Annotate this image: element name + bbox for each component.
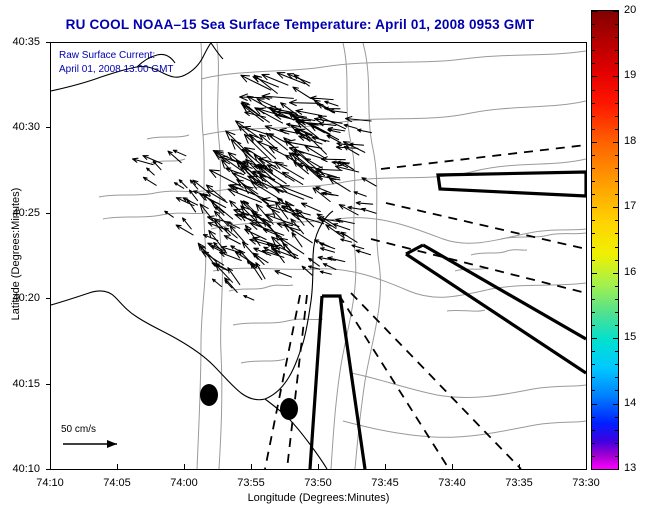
colorbar-minor-tick [615, 247, 618, 248]
colorbar-minor-tick [592, 299, 595, 300]
x-axis-tick [586, 464, 587, 469]
current-vector [356, 250, 370, 255]
x-axis-tick-label: 74:10 [36, 477, 64, 489]
colorbar-minor-tick [592, 24, 595, 25]
current-vector [336, 219, 355, 224]
current-vector [147, 168, 155, 175]
colorbar-minor-tick [592, 286, 595, 287]
colorbar-tick-label: 19 [624, 69, 636, 81]
colorbar-minor-tick [615, 168, 618, 169]
x-axis-tick [251, 464, 252, 469]
current-vector [344, 124, 357, 128]
colorbar-tick-label: 15 [624, 331, 636, 343]
colorbar-tick [613, 142, 618, 143]
current-vector [325, 101, 338, 106]
colorbar-minor-tick [592, 220, 595, 221]
current-vector [320, 271, 331, 274]
colorbar-minor-tick [615, 312, 618, 313]
current-vector [224, 236, 240, 244]
current-vector [240, 94, 272, 100]
current-vector [228, 268, 240, 285]
current-vector [341, 239, 352, 242]
current-vector [299, 136, 322, 144]
sst-map-figure: RU COOL NOAA–15 Sea Surface Temperature:… [0, 0, 651, 518]
current-vector [302, 203, 321, 211]
colorbar-minor-tick [592, 351, 595, 352]
colorbar-minor-tick [615, 364, 618, 365]
colorbar-tick-label: 14 [624, 397, 636, 409]
current-vector [256, 263, 265, 279]
colorbar-tick [613, 11, 618, 12]
colorbar-minor-tick [592, 377, 595, 378]
colorbar-ticks [592, 11, 618, 469]
colorbar-minor-tick [592, 103, 595, 104]
current-vector [206, 185, 225, 200]
colorbar-minor-tick [592, 129, 595, 130]
colorbar-minor-tick [615, 325, 618, 326]
colorbar-minor-tick [592, 417, 595, 418]
station-marker-west [200, 384, 218, 406]
current-vector [352, 245, 364, 249]
x-axis-tick-label: 73:40 [438, 477, 466, 489]
current-vector [313, 188, 330, 202]
colorbar-minor-tick [615, 103, 618, 104]
x-axis-tick-label: 73:35 [505, 477, 533, 489]
current-vector [176, 225, 193, 235]
x-axis-ticks [50, 469, 587, 475]
current-vector [346, 117, 372, 122]
colorbar-minor-tick [592, 247, 595, 248]
current-vector [356, 202, 372, 205]
current-vector [350, 143, 364, 146]
colorbar-minor-tick [615, 390, 618, 391]
y-axis-tick [46, 384, 51, 385]
colorbar-minor-tick [592, 312, 595, 313]
annotation-line-2: April 01, 2008 13:00 GMT [59, 63, 174, 77]
colorbar-minor-tick [615, 37, 618, 38]
y-axis-tick-label: 40:10 [0, 463, 40, 475]
shipping-lane-mid [406, 245, 586, 373]
y-axis-ticks [45, 42, 51, 470]
current-vector [322, 157, 346, 162]
colorbar-minor-tick [592, 364, 595, 365]
colorbar-minor-tick [592, 325, 595, 326]
colorbar-minor-tick [615, 63, 618, 64]
y-axis-tick-label: 40:35 [0, 36, 40, 48]
colorbar-minor-tick [615, 50, 618, 51]
current-vector [244, 126, 268, 134]
y-axis-tick [46, 298, 51, 299]
colorbar-minor-tick [615, 233, 618, 234]
colorbar-minor-tick [592, 181, 595, 182]
colorbar-minor-tick [592, 430, 595, 431]
colorbar-minor-tick [615, 299, 618, 300]
x-axis-tick [452, 464, 453, 469]
colorbar-tick-label: 16 [624, 266, 636, 278]
colorbar-minor-tick [592, 63, 595, 64]
colorbar-tick [613, 469, 618, 470]
colorbar-minor-tick [615, 377, 618, 378]
x-axis-tick-label: 73:50 [304, 477, 332, 489]
current-vector [216, 265, 233, 282]
x-axis-tick-label: 73:45 [371, 477, 399, 489]
current-vector [335, 165, 358, 172]
x-axis-tick [519, 464, 520, 469]
current-vector [293, 87, 311, 98]
current-vector [173, 150, 186, 156]
sst-contour-group [99, 43, 586, 469]
scale-legend: 50 cm/s [61, 424, 171, 464]
current-vector [357, 129, 371, 133]
colorbar-minor-tick [615, 456, 618, 457]
current-annotation: Raw Surface Current: April 01, 2008 13:0… [59, 49, 174, 77]
current-vector [263, 250, 284, 257]
colorbar-minor-tick [615, 260, 618, 261]
colorbar-minor-tick [615, 129, 618, 130]
y-axis-title: Latitude (Degrees:Minutes) [10, 154, 22, 354]
colorbar-minor-tick [615, 181, 618, 182]
colorbar-minor-tick [592, 260, 595, 261]
colorbar-tick [613, 338, 618, 339]
y-axis-tick [46, 42, 51, 43]
y-axis-tick [46, 469, 51, 470]
x-axis-tick [318, 464, 319, 469]
colorbar-minor-tick [615, 155, 618, 156]
current-vector [333, 224, 350, 230]
current-vector [283, 172, 303, 184]
map-plot-area[interactable]: Raw Surface Current: April 01, 2008 13:0… [50, 42, 587, 470]
x-axis-tick [117, 464, 118, 469]
current-vector [133, 158, 154, 164]
colorbar-tick [613, 273, 618, 274]
colorbar-minor-tick [592, 50, 595, 51]
colorbar-minor-tick [615, 116, 618, 117]
shipping-lane-north [438, 172, 586, 196]
shipping-lane-group [310, 172, 586, 469]
colorbar-minor-tick [615, 194, 618, 195]
colorbar-minor-tick [615, 430, 618, 431]
current-vector [275, 271, 292, 277]
colorbar-tick-label: 17 [624, 200, 636, 212]
colorbar-tick-label: 20 [624, 4, 636, 16]
x-axis-title: Longitude (Degrees:Minutes) [50, 492, 587, 504]
colorbar-minor-tick [615, 351, 618, 352]
colorbar-minor-tick [592, 37, 595, 38]
current-vector [330, 109, 347, 112]
colorbar-minor-tick [615, 286, 618, 287]
colorbar-tick [592, 338, 597, 339]
current-vector [265, 126, 289, 134]
y-axis-tick-label: 40:15 [0, 378, 40, 390]
x-axis-tick [385, 464, 386, 469]
figure-title: RU COOL NOAA–15 Sea Surface Temperature:… [0, 17, 600, 32]
current-vector [348, 206, 363, 209]
colorbar-tick [592, 11, 597, 12]
current-vector [143, 177, 156, 185]
station-marker-east [280, 398, 298, 420]
current-vector [330, 179, 351, 192]
y-axis-tick [46, 213, 51, 214]
x-axis-tick-label: 73:30 [572, 477, 600, 489]
colorbar-tick [592, 273, 597, 274]
colorbar-minor-tick [592, 168, 595, 169]
colorbar-minor-tick [615, 90, 618, 91]
colorbar-tick [592, 207, 597, 208]
current-vector [213, 279, 222, 286]
colorbar-tick-label: 13 [624, 462, 636, 474]
current-vector [296, 109, 322, 115]
x-axis-tick-label: 73:55 [237, 477, 265, 489]
surface-current-vector-group [133, 73, 377, 300]
current-vector [362, 208, 376, 213]
colorbar-tick [592, 76, 597, 77]
colorbar-minor-tick [615, 417, 618, 418]
colorbar-minor-tick [615, 24, 618, 25]
current-vector [183, 218, 192, 229]
y-axis-tick-label: 40:30 [0, 121, 40, 133]
current-vector [290, 100, 319, 106]
colorbar-tick [613, 404, 618, 405]
colorbar-tick [592, 469, 597, 470]
right-arrow-icon [61, 435, 131, 453]
colorbar-tick-label: 18 [624, 135, 636, 147]
x-axis-tick-label: 74:00 [170, 477, 198, 489]
station-marker-group[interactable] [200, 384, 298, 420]
y-axis-tick [46, 127, 51, 128]
x-axis-tick-label: 74:05 [103, 477, 131, 489]
current-vector [339, 205, 358, 215]
colorbar-minor-tick [592, 90, 595, 91]
colorbar-minor-tick [592, 233, 595, 234]
current-vector [244, 296, 254, 300]
colorbar-minor-tick [592, 116, 595, 117]
scale-legend-label: 50 cm/s [61, 424, 171, 435]
colorbar-minor-tick [592, 194, 595, 195]
colorbar-minor-tick [592, 390, 595, 391]
x-axis-tick [184, 464, 185, 469]
colorbar-tick [613, 207, 618, 208]
colorbar-minor-tick [615, 443, 618, 444]
annotation-line-1: Raw Surface Current: [59, 49, 174, 63]
colorbar-minor-tick [615, 220, 618, 221]
colorbar-tick [613, 76, 618, 77]
colorbar[interactable] [591, 10, 619, 470]
current-vector [262, 94, 293, 100]
colorbar-minor-tick [592, 155, 595, 156]
x-axis-labels: 74:1074:0574:0073:5573:5073:4573:4073:35… [50, 477, 587, 493]
current-vector [309, 258, 320, 266]
colorbar-tick [592, 142, 597, 143]
colorbar-tick [592, 404, 597, 405]
current-vector [354, 192, 366, 197]
colorbar-minor-tick [592, 443, 595, 444]
map-canvas [51, 43, 586, 469]
colorbar-minor-tick [592, 456, 595, 457]
